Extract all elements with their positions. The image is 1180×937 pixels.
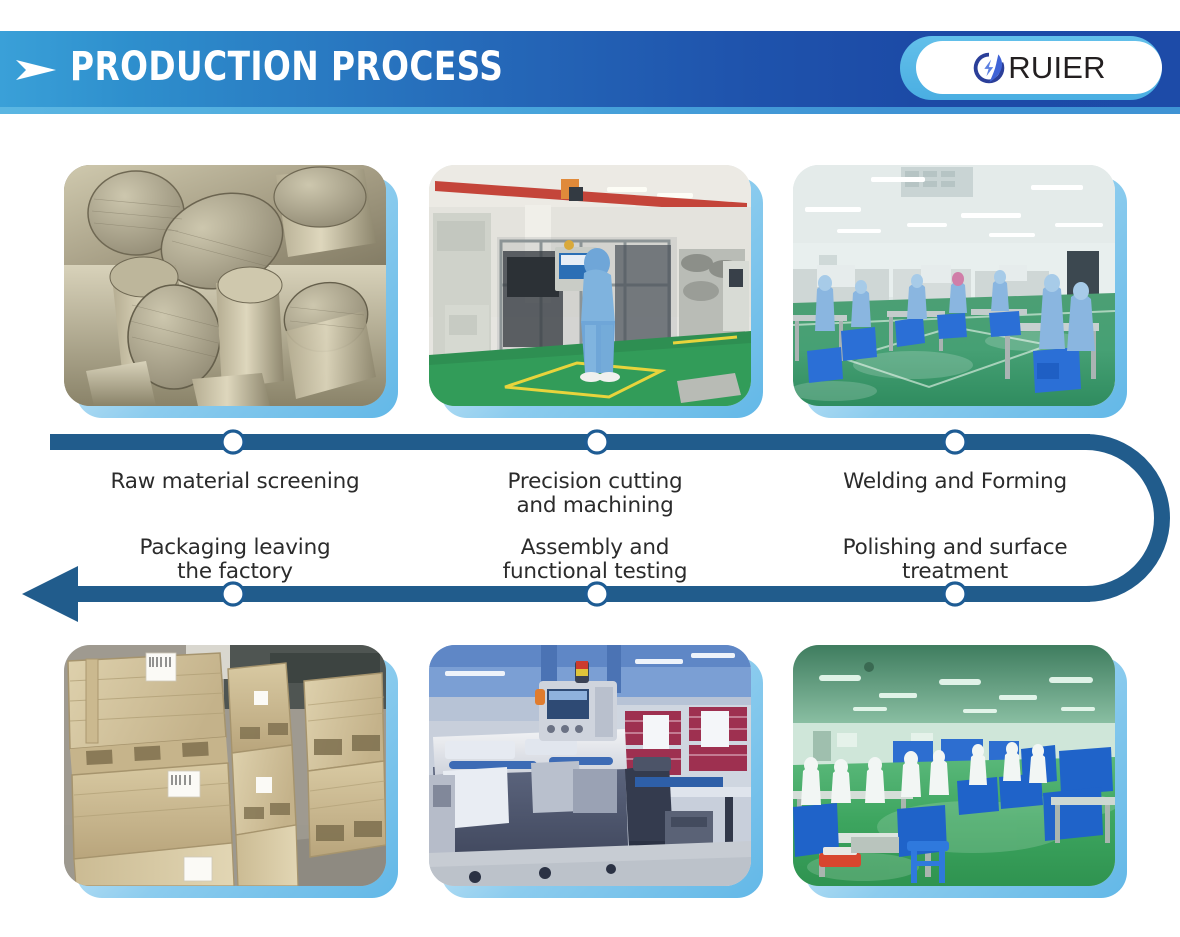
timeline-top-bar: [50, 434, 1090, 450]
wooden-crates-packaging-image: [64, 645, 386, 886]
timeline-step-label-2: Precision cutting and machining: [430, 470, 760, 518]
step-label-line: functional testing: [430, 560, 760, 584]
step-label-line: the factory: [60, 560, 410, 584]
cleanroom-assembly-line-photo: [793, 165, 1115, 406]
step-label-line: Packaging leaving: [60, 536, 410, 560]
cnc-lathe-machine-image: [429, 645, 751, 886]
timeline-node-4: [944, 583, 966, 605]
lightning-bolt-circle-icon: [972, 51, 1006, 85]
cnc-lathe-machine-photo: [429, 645, 751, 886]
timeline-node-2: [586, 431, 608, 453]
step-label-line: treatment: [790, 560, 1120, 584]
page-title: PRODUCTION PROCESS: [70, 44, 503, 90]
timeline-track: [0, 418, 1180, 628]
step-label-line: Raw material screening: [60, 470, 410, 494]
green-floor-workshop-photo: [793, 645, 1115, 886]
metal-billets-image: [64, 165, 386, 406]
timeline-step-label-3: Welding and Forming: [790, 470, 1120, 494]
cutting-machine-operator-photo: [429, 165, 751, 406]
process-timeline: Raw material screening Precision cutting…: [0, 418, 1180, 628]
timeline-step-label-6: Packaging leaving the factory: [60, 536, 410, 584]
brand-name: RUIER: [1008, 52, 1105, 83]
step-label-line: Assembly and: [430, 536, 760, 560]
cutting-machine-operator-image: [429, 165, 751, 406]
step-label-line: Precision cutting: [430, 470, 760, 494]
step-label-line: Polishing and surface: [790, 536, 1120, 560]
wooden-crates-packaging-photo: [64, 645, 386, 886]
timeline-step-label-5: Assembly and functional testing: [430, 536, 760, 584]
triangle-right-icon: [14, 57, 58, 83]
timeline-node-3: [944, 431, 966, 453]
timeline-node-5: [586, 583, 608, 605]
timeline-step-label-1: Raw material screening: [60, 470, 410, 494]
cleanroom-assembly-line-image: [793, 165, 1115, 406]
brand-logo[interactable]: RUIER: [916, 41, 1162, 94]
step-label-line: and machining: [430, 494, 760, 518]
timeline-node-6: [222, 583, 244, 605]
timeline-bottom-bar: [48, 586, 1090, 602]
header-underline: [0, 107, 1180, 114]
green-floor-workshop-image: [793, 645, 1115, 886]
timeline-step-label-4: Polishing and surface treatment: [790, 536, 1120, 584]
metal-billets-photo: [64, 165, 386, 406]
step-label-line: Welding and Forming: [790, 470, 1120, 494]
timeline-node-1: [222, 431, 244, 453]
